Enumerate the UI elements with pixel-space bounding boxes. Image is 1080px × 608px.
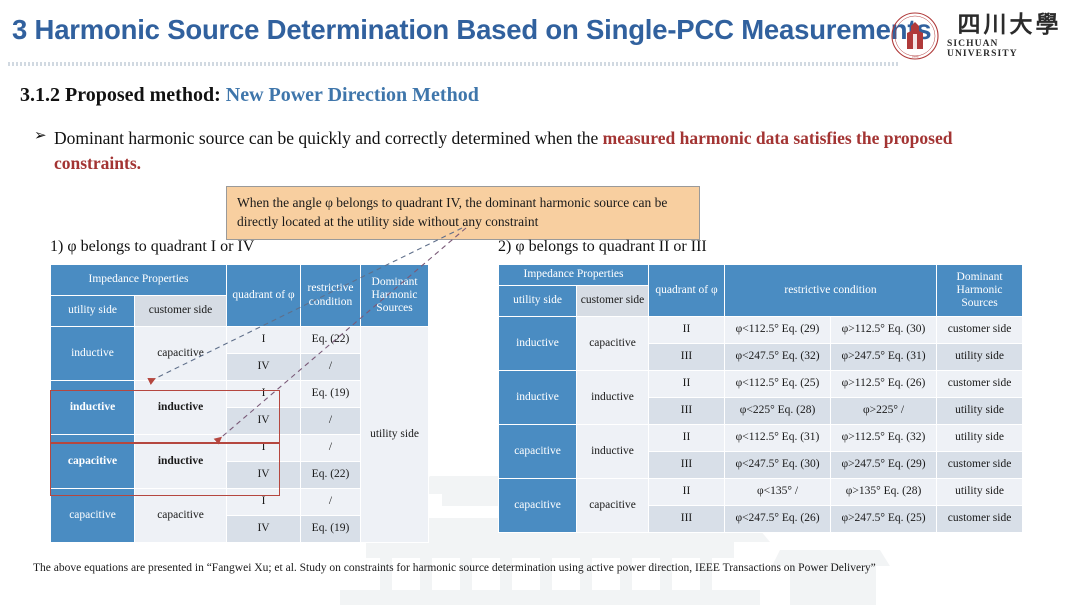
cell-condition-a: φ<112.5° Eq. (29) xyxy=(725,317,831,344)
cell-quadrant: IV xyxy=(227,408,301,435)
cell-quadrant: IV xyxy=(227,354,301,381)
cell-quadrant: I xyxy=(227,435,301,462)
section-heading: 3.1.2 Proposed method: New Power Directi… xyxy=(20,84,479,107)
logo-chinese-name: 四川大學 xyxy=(958,13,1062,37)
header-impedance-properties: Impedance Properties xyxy=(51,265,227,296)
cell-condition-a: φ<247.5° Eq. (26) xyxy=(725,506,831,533)
table-quadrant-II-III: Impedance Propertiesquadrant of φrestric… xyxy=(498,264,1023,533)
cell-utility-impedance: inductive xyxy=(51,381,135,435)
header-restrictive-condition: restrictive condition xyxy=(725,265,937,317)
cell-customer-impedance: capacitive xyxy=(135,489,227,543)
cell-customer-impedance: inductive xyxy=(577,425,649,479)
cell-condition: Eq. (19) xyxy=(301,381,361,408)
cell-condition-b: φ>112.5° Eq. (30) xyxy=(831,317,937,344)
cell-quadrant: IV xyxy=(227,516,301,543)
header-customer-side: customer side xyxy=(135,296,227,327)
footer-citation: The above equations are presented in “Fa… xyxy=(33,562,1053,574)
callout-box: When the angle φ belongs to quadrant IV,… xyxy=(226,186,700,240)
cell-customer-impedance: capacitive xyxy=(577,479,649,533)
cell-condition: Eq. (22) xyxy=(301,327,361,354)
cell-condition-b: φ>225° / xyxy=(831,398,937,425)
cell-utility-impedance: capacitive xyxy=(51,489,135,543)
cell-utility-impedance: capacitive xyxy=(51,435,135,489)
table-row: capacitivecapacitiveIIφ<135° /φ>135° Eq.… xyxy=(499,479,1023,506)
cell-dominant-source: utility side xyxy=(937,425,1023,452)
cell-customer-impedance: capacitive xyxy=(135,327,227,381)
cell-condition-b: φ>135° Eq. (28) xyxy=(831,479,937,506)
slide-canvas: 3 Harmonic Source Determination Based on… xyxy=(0,0,1080,608)
cell-condition-a: φ<247.5° Eq. (32) xyxy=(725,344,831,371)
bullet-text-end: . xyxy=(137,153,141,173)
table-row: inductivecapacitiveIEq. (22)utility side xyxy=(51,327,429,354)
cell-quadrant: II xyxy=(649,317,725,344)
cell-condition-b: φ>247.5° Eq. (29) xyxy=(831,452,937,479)
cell-quadrant: I xyxy=(227,327,301,354)
cell-condition: / xyxy=(301,435,361,462)
page-title: 3 Harmonic Source Determination Based on… xyxy=(12,14,931,46)
cell-utility-impedance: capacitive xyxy=(499,479,577,533)
cell-quadrant: IV xyxy=(227,462,301,489)
table-header-row: Impedance Propertiesquadrant of φrestric… xyxy=(499,265,1023,286)
cell-condition-a: φ<135° / xyxy=(725,479,831,506)
logo-text-block: 四川大學 SICHUAN UNIVERSITY xyxy=(947,13,1072,59)
cell-utility-impedance: capacitive xyxy=(499,425,577,479)
section-accent-label: New Power Direction Method xyxy=(226,84,479,106)
cell-condition: / xyxy=(301,408,361,435)
header-restrictive-condition: restrictive condition xyxy=(301,265,361,327)
table-row: inductiveinductiveIIφ<112.5° Eq. (25)φ>1… xyxy=(499,371,1023,398)
cell-utility-impedance: inductive xyxy=(51,327,135,381)
cell-customer-impedance: inductive xyxy=(135,381,227,435)
cell-condition: Eq. (22) xyxy=(301,462,361,489)
cell-condition-b: φ>247.5° Eq. (31) xyxy=(831,344,937,371)
cell-quadrant: III xyxy=(649,452,725,479)
table-header-row: Impedance Propertiesquadrant of φrestric… xyxy=(51,265,429,296)
cell-quadrant: III xyxy=(649,506,725,533)
header-utility-side: utility side xyxy=(499,286,577,317)
cell-quadrant: III xyxy=(649,344,725,371)
university-logo: 1896 四川大學 SICHUAN UNIVERSITY xyxy=(890,8,1072,64)
cell-condition-a: φ<225° Eq. (28) xyxy=(725,398,831,425)
cell-condition-b: φ>247.5° Eq. (25) xyxy=(831,506,937,533)
cell-utility-impedance: inductive xyxy=(499,317,577,371)
header-utility-side: utility side xyxy=(51,296,135,327)
seal-icon: 1896 xyxy=(890,11,940,61)
cell-dominant-source: utility side xyxy=(937,479,1023,506)
cell-condition-a: φ<112.5° Eq. (25) xyxy=(725,371,831,398)
header-quadrant: quadrant of φ xyxy=(649,265,725,317)
title-divider xyxy=(8,62,898,66)
cell-quadrant: II xyxy=(649,371,725,398)
cell-dominant-source: utility side xyxy=(361,327,429,543)
subtitle-right: 2) φ belongs to quadrant II or III xyxy=(498,238,707,256)
table-row: inductivecapacitiveIIφ<112.5° Eq. (29)φ>… xyxy=(499,317,1023,344)
bullet-text-plain: Dominant harmonic source can be quickly … xyxy=(54,128,603,148)
section-number-label: 3.1.2 Proposed method: xyxy=(20,84,226,106)
cell-customer-impedance: inductive xyxy=(135,435,227,489)
logo-english-name: SICHUAN UNIVERSITY xyxy=(947,39,1072,59)
cell-condition: Eq. (19) xyxy=(301,516,361,543)
header-quadrant: quadrant of φ xyxy=(227,265,301,327)
cell-customer-impedance: capacitive xyxy=(577,317,649,371)
bullet-text: Dominant harmonic source can be quickly … xyxy=(34,126,1034,177)
cell-condition-b: φ>112.5° Eq. (26) xyxy=(831,371,937,398)
header-dominant-sources: Dominant Harmonic Sources xyxy=(361,265,429,327)
cell-dominant-source: customer side xyxy=(937,317,1023,344)
bullet-arrow-icon: ➢ xyxy=(34,126,47,148)
cell-condition-a: φ<112.5° Eq. (31) xyxy=(725,425,831,452)
bullet-paragraph: ➢ Dominant harmonic source can be quickl… xyxy=(34,126,1034,177)
cell-quadrant: II xyxy=(649,425,725,452)
subtitle-left: 1) φ belongs to quadrant I or IV xyxy=(50,238,254,256)
cell-quadrant: I xyxy=(227,381,301,408)
cell-condition-a: φ<247.5° Eq. (30) xyxy=(725,452,831,479)
cell-condition: / xyxy=(301,489,361,516)
table-row: capacitiveinductiveIIφ<112.5° Eq. (31)φ>… xyxy=(499,425,1023,452)
cell-dominant-source: customer side xyxy=(937,506,1023,533)
table-quadrant-I-IV: Impedance Propertiesquadrant of φrestric… xyxy=(50,264,429,543)
cell-utility-impedance: inductive xyxy=(499,371,577,425)
svg-text:1896: 1896 xyxy=(912,55,919,59)
cell-dominant-source: utility side xyxy=(937,398,1023,425)
cell-customer-impedance: inductive xyxy=(577,371,649,425)
cell-quadrant: III xyxy=(649,398,725,425)
header-customer-side: customer side xyxy=(577,286,649,317)
cell-dominant-source: customer side xyxy=(937,371,1023,398)
cell-dominant-source: utility side xyxy=(937,344,1023,371)
cell-condition: / xyxy=(301,354,361,381)
cell-dominant-source: customer side xyxy=(937,452,1023,479)
header-dominant-sources: Dominant Harmonic Sources xyxy=(937,265,1023,317)
header-impedance-properties: Impedance Properties xyxy=(499,265,649,286)
cell-quadrant: I xyxy=(227,489,301,516)
cell-quadrant: II xyxy=(649,479,725,506)
cell-condition-b: φ>112.5° Eq. (32) xyxy=(831,425,937,452)
